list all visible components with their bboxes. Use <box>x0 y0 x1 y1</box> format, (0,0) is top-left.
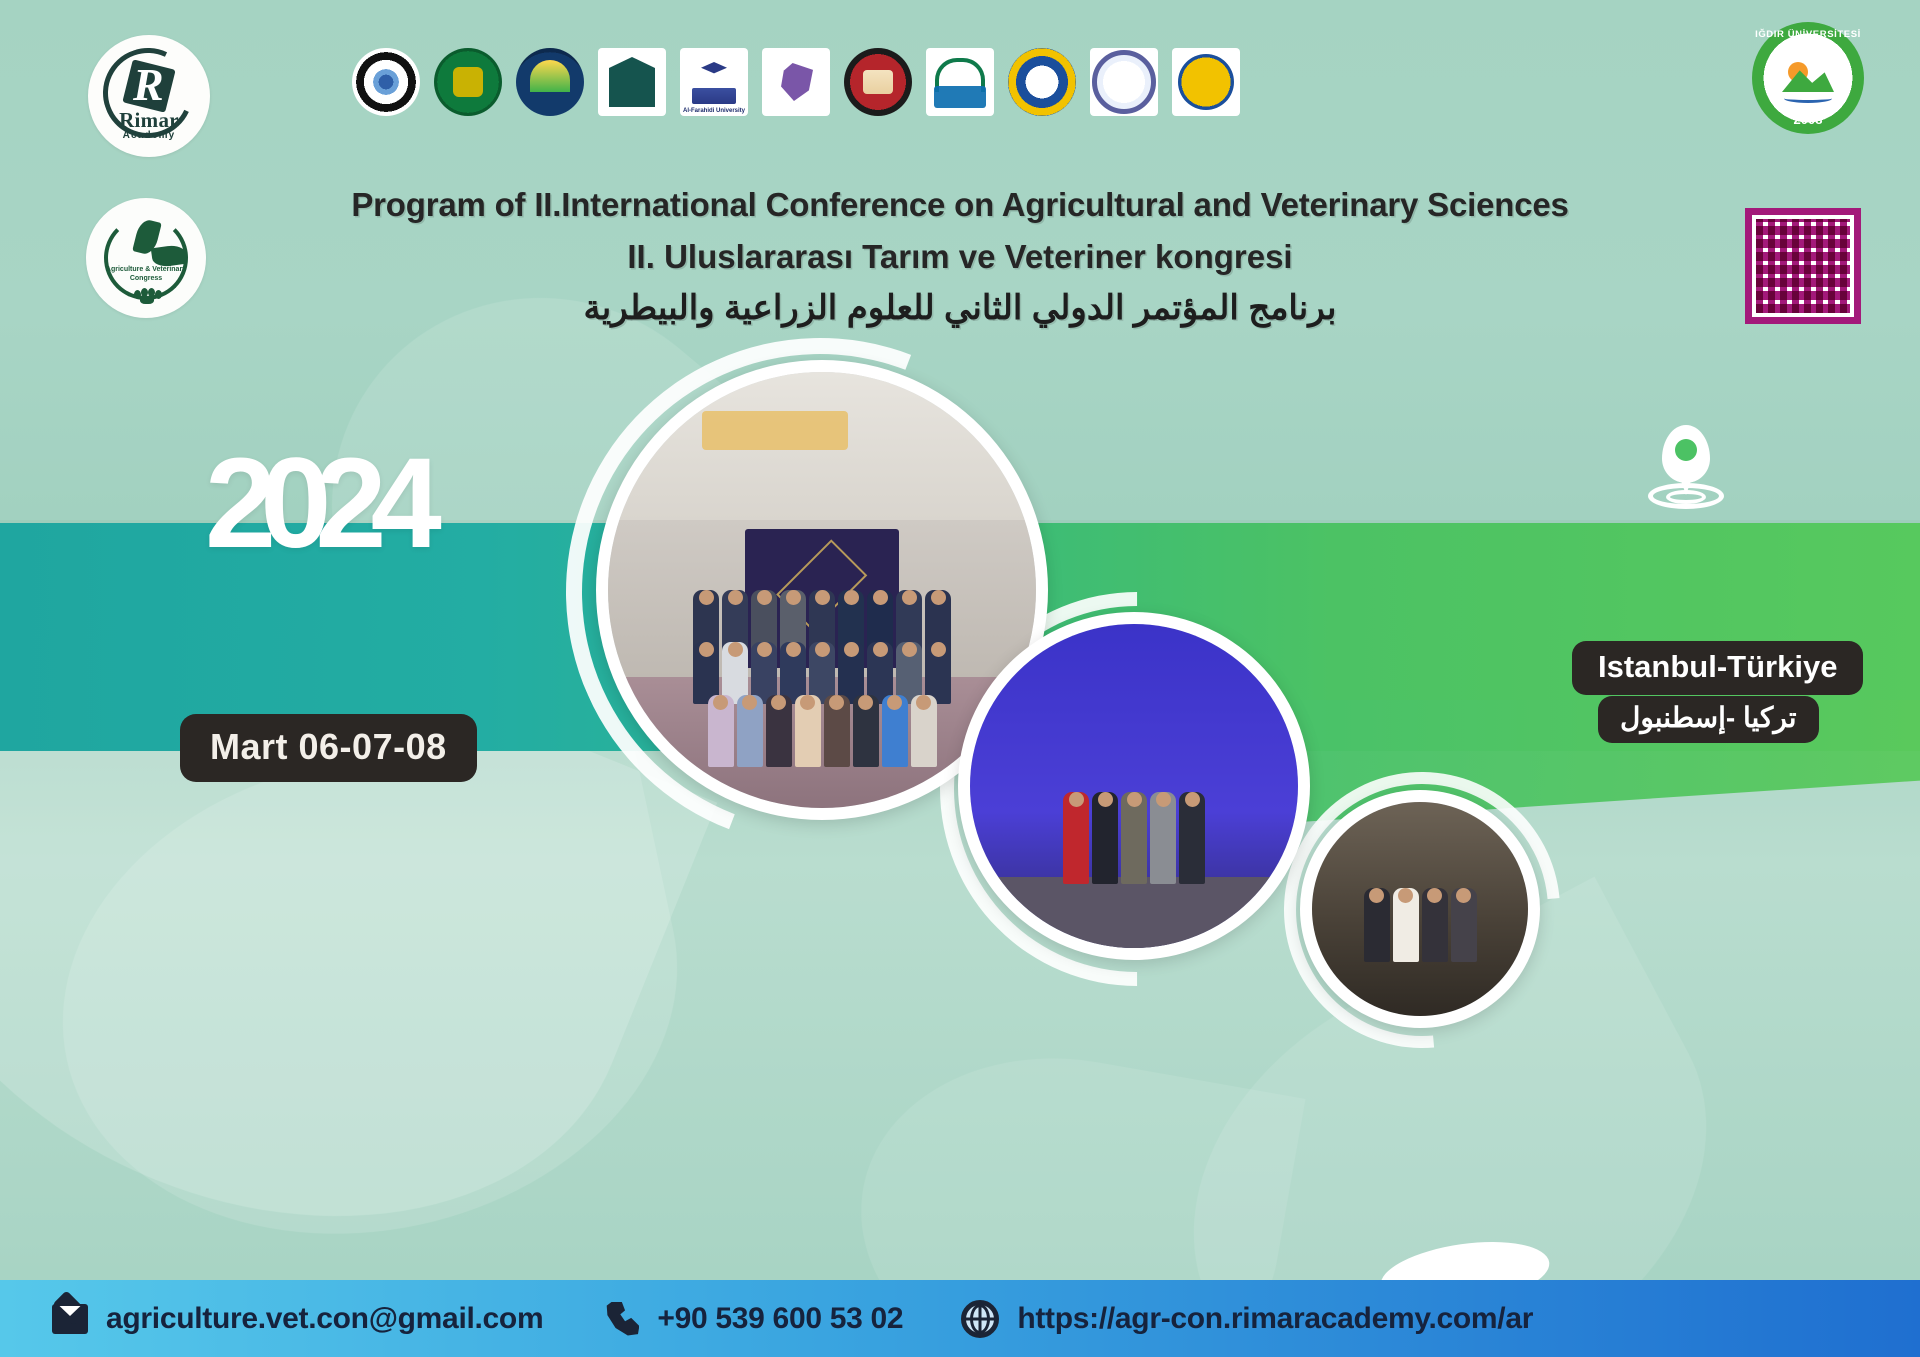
audience-photo-session <box>1300 790 1540 1028</box>
envelope-icon <box>52 1304 88 1334</box>
contact-footer: agriculture.vet.con@gmail.com +90 539 60… <box>0 1280 1920 1357</box>
group-photo-stage-award <box>958 612 1310 960</box>
contact-website[interactable]: https://agr-con.rimaracademy.com/ar <box>961 1300 1533 1338</box>
website-text: https://agr-con.rimaracademy.com/ar <box>1017 1302 1533 1336</box>
email-text: agriculture.vet.con@gmail.com <box>106 1302 543 1336</box>
event-dates-badge: Mart 06-07-08 <box>180 714 477 782</box>
phone-icon <box>605 1302 639 1336</box>
photo-collage <box>0 0 1920 1280</box>
map-pin-icon <box>1640 425 1732 515</box>
event-year: 2024 <box>205 440 426 568</box>
globe-icon <box>961 1300 999 1338</box>
conference-poster: R Rimar Academy Al-Farahidi University I… <box>0 0 1920 1357</box>
location-badge-arabic: تركيا -إسطنبول <box>1598 696 1819 743</box>
contact-phone[interactable]: +90 539 600 53 02 <box>605 1302 903 1336</box>
contact-email[interactable]: agriculture.vet.con@gmail.com <box>52 1302 543 1336</box>
phone-text: +90 539 600 53 02 <box>657 1302 903 1336</box>
location-badge-latin: Istanbul-Türkiye <box>1572 641 1863 695</box>
